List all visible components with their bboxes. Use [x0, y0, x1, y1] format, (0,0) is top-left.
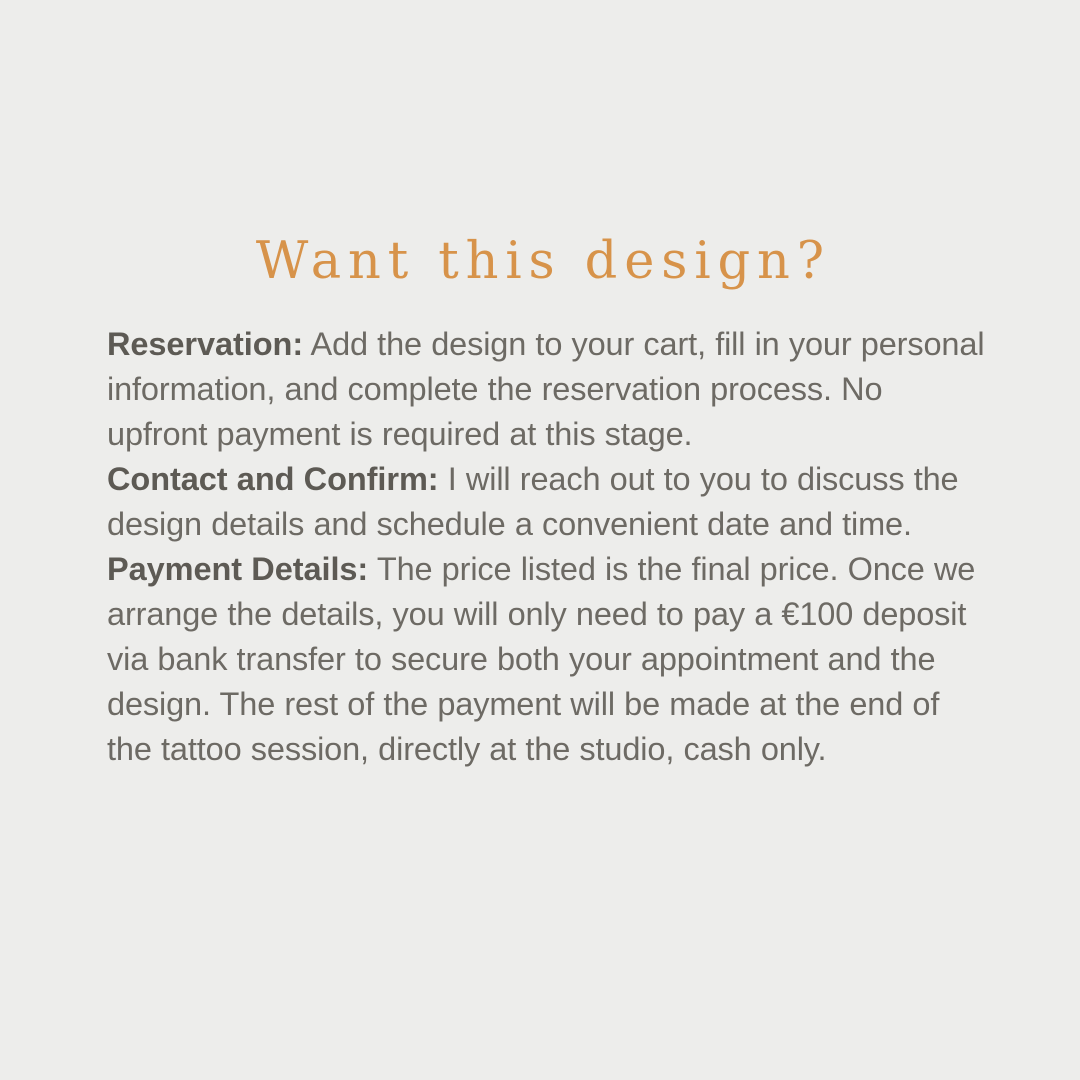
section-payment-details-label: Payment Details:: [107, 551, 368, 587]
section-contact-and-confirm: Contact and Confirm: I will reach out to…: [107, 457, 987, 547]
section-contact-and-confirm-label: Contact and Confirm:: [107, 461, 439, 497]
section-payment-details: Payment Details: The price listed is the…: [107, 547, 987, 772]
poster-canvas: Want this design? Reservation: Add the d…: [0, 0, 1080, 1080]
info-text-block: Reservation: Add the design to your cart…: [107, 322, 987, 772]
page-title: Want this design?: [0, 230, 1080, 294]
section-reservation: Reservation: Add the design to your cart…: [107, 322, 987, 457]
section-reservation-label: Reservation:: [107, 326, 303, 362]
